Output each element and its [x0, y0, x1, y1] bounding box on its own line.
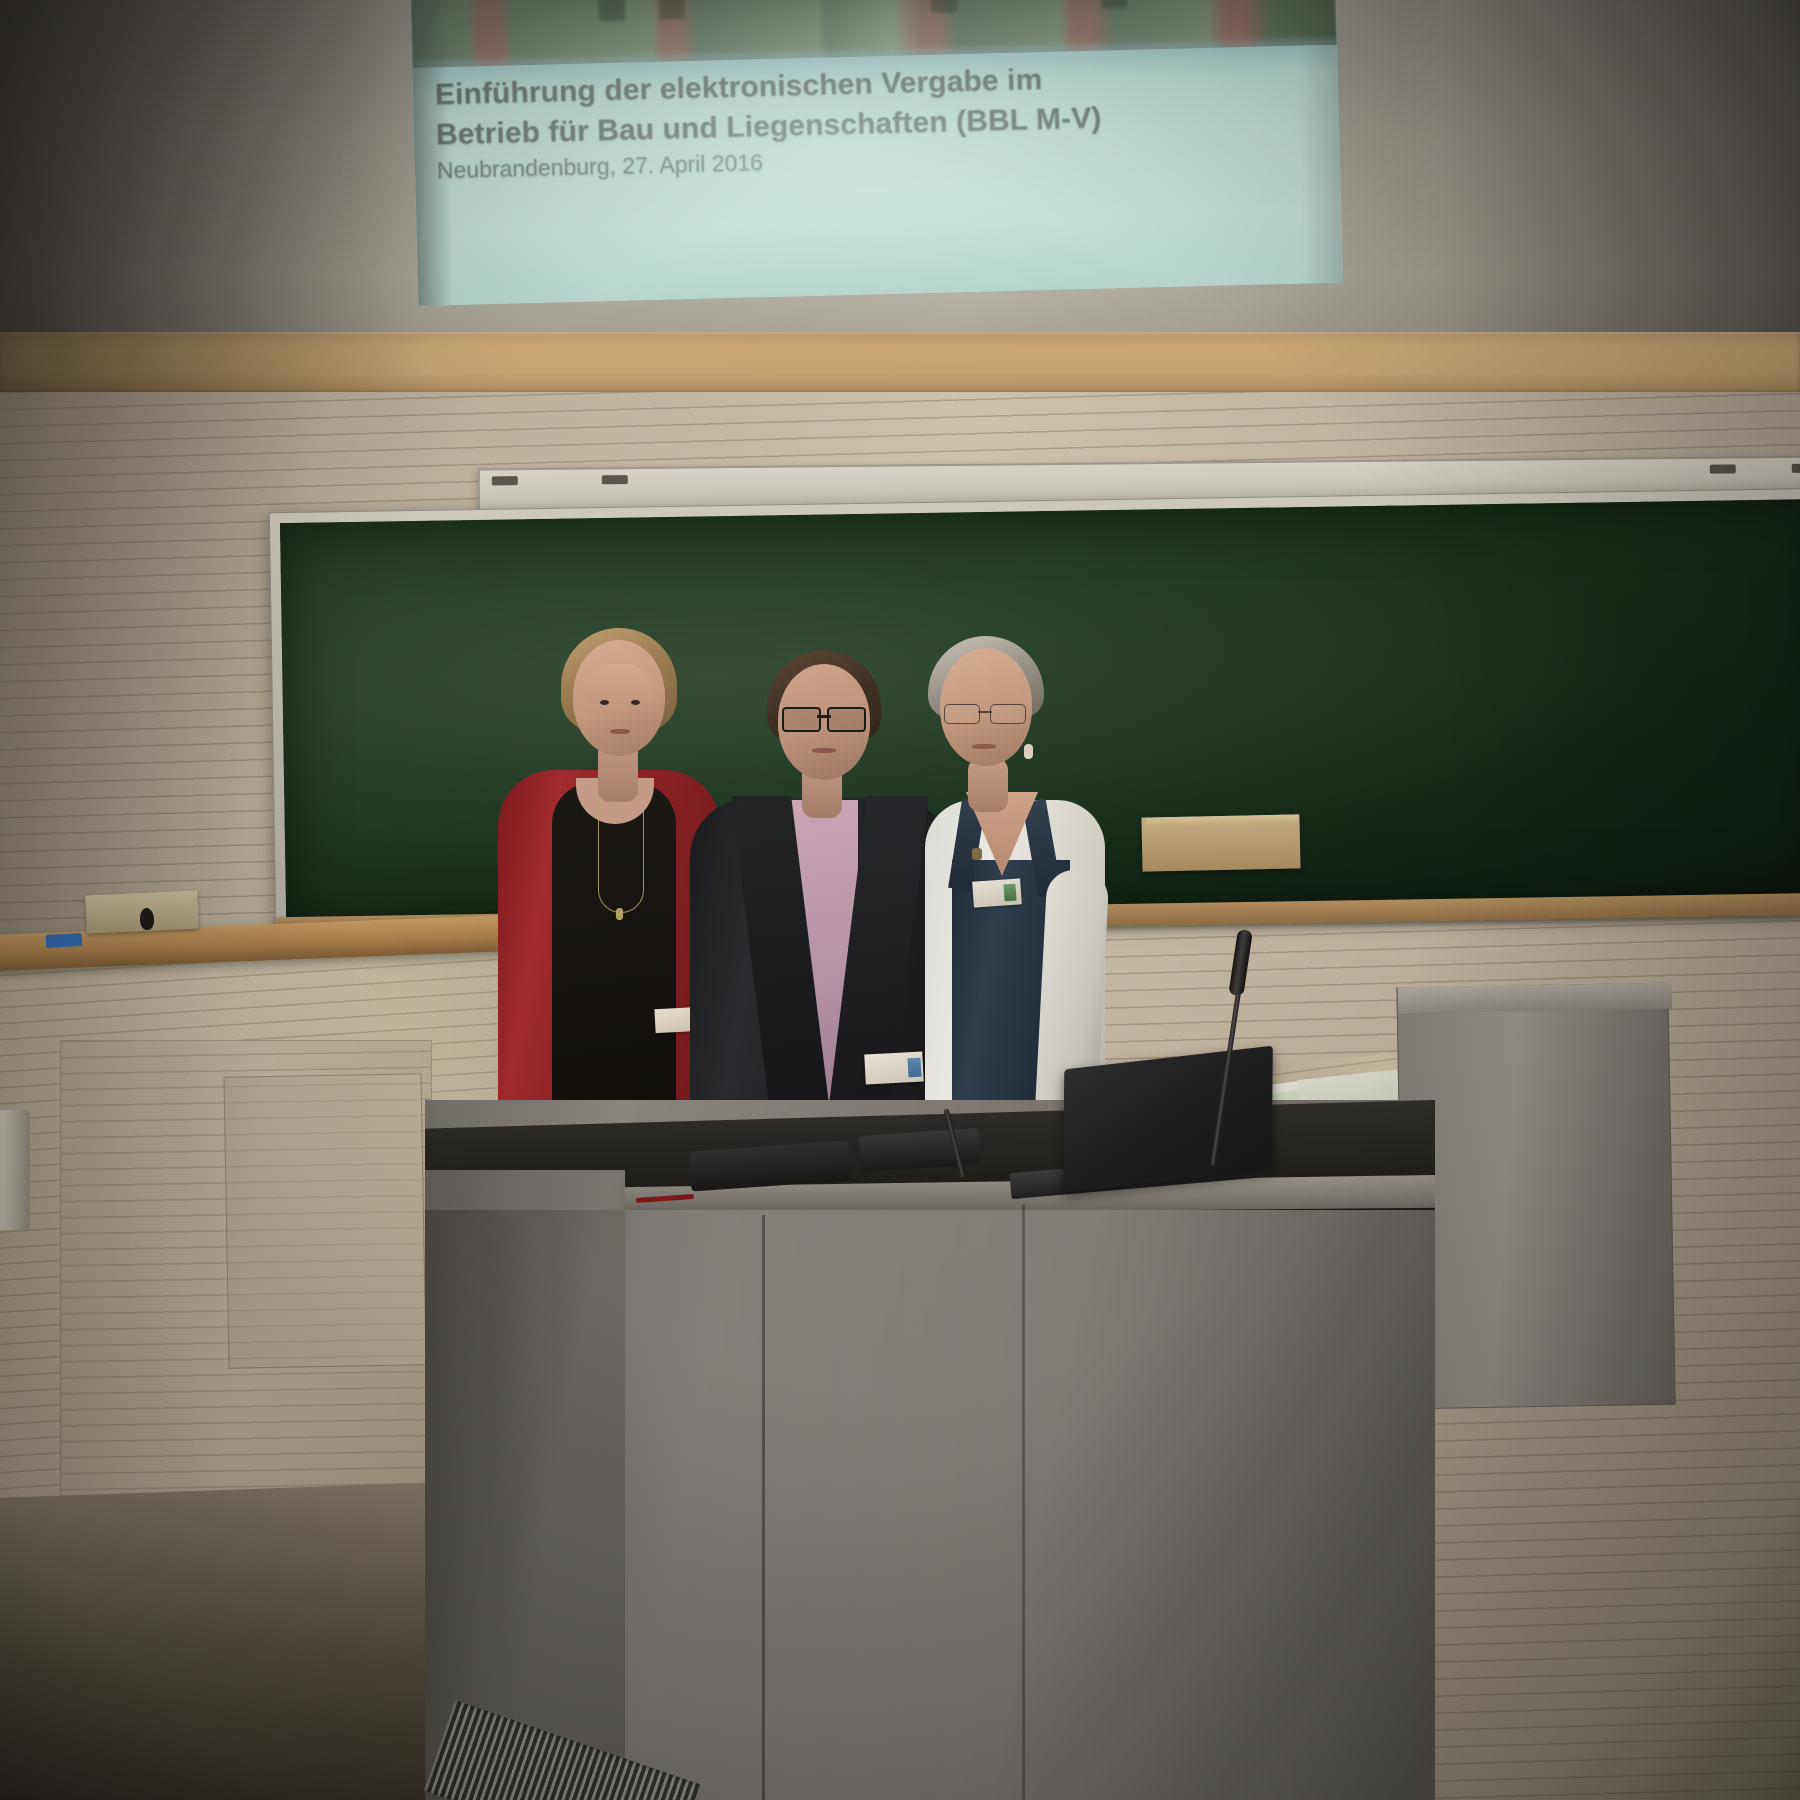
eye-left [600, 700, 609, 705]
eye-right [631, 700, 640, 705]
necklace-pendant [972, 848, 982, 860]
slide-text-block: Einführung der elektronischen Vergabe im… [435, 53, 1330, 185]
eyeglasses-icon [782, 707, 866, 728]
eyeglasses-icon [944, 704, 1026, 722]
whiteboard-clip-left [492, 476, 518, 485]
slide-right-edge-shadow [1295, 0, 1343, 283]
earring [1024, 744, 1033, 759]
waste-bin [0, 1110, 30, 1230]
apple-logo-icon [1140, 1110, 1165, 1137]
name-badge-logo [1003, 884, 1016, 902]
slide-left-edge-shadow [410, 0, 454, 306]
name-badge-logo [908, 1058, 922, 1078]
necklace [598, 800, 644, 913]
projected-slide: Einführung der elektronischen Vergabe im… [410, 0, 1343, 306]
blue-chalk-marker [46, 933, 83, 948]
floor-left [0, 1482, 465, 1800]
mouth [972, 744, 996, 749]
mouth [610, 729, 630, 734]
left-cabinet-door-panel[interactable] [223, 1073, 426, 1368]
necklace-pendant [616, 908, 623, 920]
whiteboard-clip-mid [602, 475, 628, 484]
whiteboard-clip-right [1710, 464, 1736, 473]
lectern-shading [425, 1210, 1435, 1800]
whiteboard-clip-far-right [1792, 464, 1800, 473]
right-console-box [1396, 983, 1675, 1410]
neck [968, 758, 1008, 812]
lecture-hall-scene: Einführung der elektronischen Vergabe im… [0, 0, 1800, 1800]
wall-wood-trim-shadow [0, 332, 430, 394]
macbook-laptop[interactable] [1063, 1046, 1273, 1193]
right-console-top [1398, 983, 1672, 1014]
mouth [812, 748, 836, 753]
